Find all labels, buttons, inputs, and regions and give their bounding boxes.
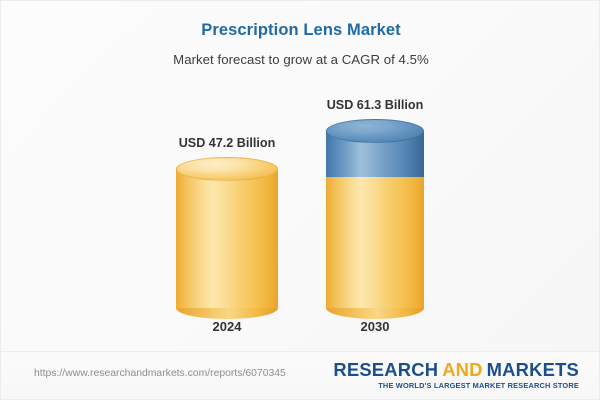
bar-body-2024-base: [176, 169, 278, 308]
plot-area: USD 47.2 Billion 2024 USD 61.3 Billion: [1, 1, 600, 351]
report-url[interactable]: https://www.researchandmarkets.com/repor…: [34, 368, 286, 379]
bar-segment-2030-growth: [326, 131, 424, 177]
logo-tagline: THE WORLD'S LARGEST MARKET RESEARCH STOR…: [333, 381, 579, 390]
value-label-2030: USD 61.3 Billion: [265, 98, 485, 112]
logo-word-and: AND: [442, 359, 482, 380]
logo-word-markets: MARKETS: [487, 359, 579, 380]
bar-segment-2030-base: [326, 176, 424, 308]
bar-top-ellipse-2024: [176, 157, 278, 181]
value-label-2024: USD 47.2 Billion: [117, 136, 337, 150]
logo-word-research: RESEARCH: [333, 359, 438, 380]
chart-card: Prescription Lens Market Market forecast…: [0, 0, 600, 400]
bar-body-2030-base: [326, 176, 424, 308]
research-and-markets-logo[interactable]: RESEARCHANDMARKETS THE WORLD'S LARGEST M…: [333, 360, 579, 390]
footer: https://www.researchandmarkets.com/repor…: [1, 351, 600, 400]
bar-segment-2024-base: [176, 169, 278, 308]
bar-2030[interactable]: [326, 119, 424, 315]
bar-2024[interactable]: [176, 157, 278, 315]
logo-wordmark: RESEARCHANDMARKETS: [333, 360, 579, 379]
category-label-2030: 2030: [275, 319, 475, 334]
bar-top-ellipse-2030: [326, 119, 424, 143]
